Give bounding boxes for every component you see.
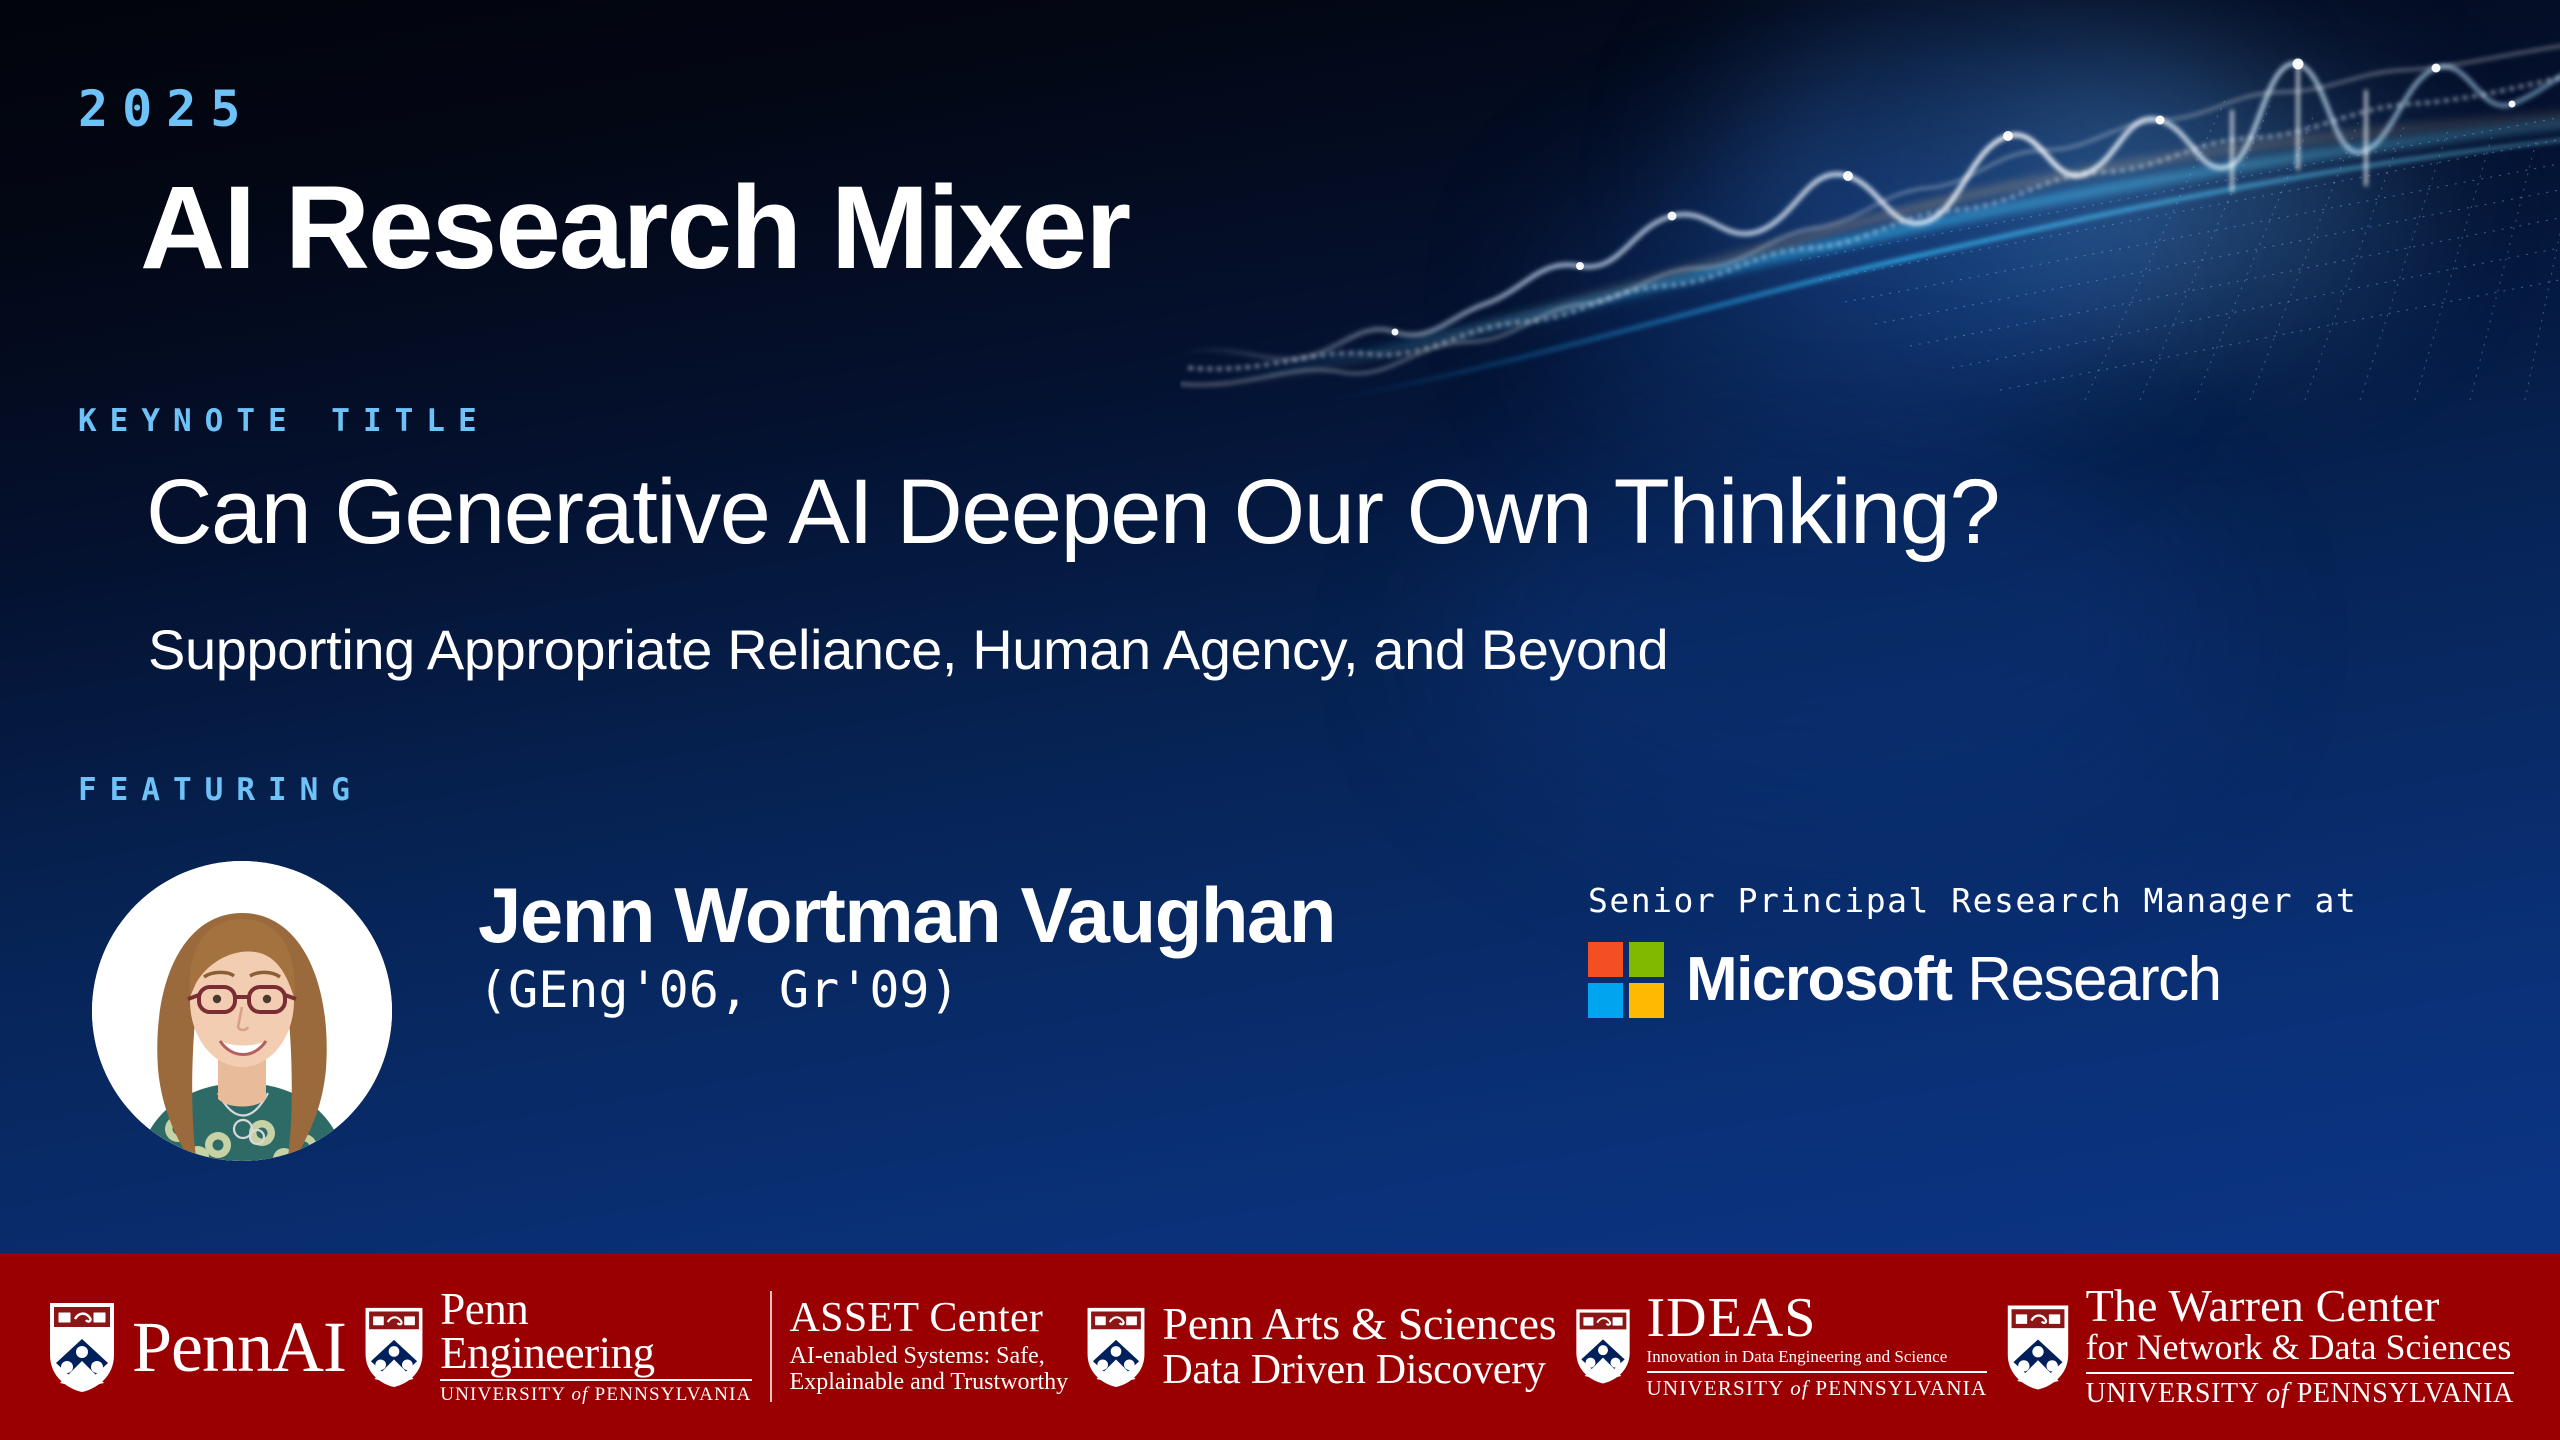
university-word: UNIVERSITY — [2086, 1378, 2259, 1409]
penn-arts-sciences-subtitle: Data Driven Discovery — [1162, 1348, 1556, 1393]
microsoft-research-wordmark: Microsoft Research — [1686, 949, 2221, 1011]
logo-warren-center[interactable]: The Warren Center for Network & Data Sci… — [2004, 1283, 2514, 1409]
asset-center-tagline-line1: AI-enabled Systems: Safe, — [790, 1343, 1069, 1370]
warren-center-subtitle: for Network & Data Sciences — [2086, 1329, 2514, 1366]
pennsylvania-word: PENNSYLVANIA — [2297, 1378, 2514, 1409]
penn-shield-icon — [2004, 1301, 2072, 1393]
penn-shield-icon — [46, 1299, 118, 1395]
microsoft-research-logo: Microsoft Research — [1588, 942, 2357, 1018]
background-glow — [1560, 150, 2120, 450]
event-title: AI Research Mixer — [140, 160, 1129, 296]
logo-penn-engineering-asset[interactable]: Penn Engineering UNIVERSITY of PENNSYLVA… — [362, 1287, 1068, 1406]
penn-engineering-wordmark: Penn Engineering UNIVERSITY of PENNSYLVA… — [440, 1287, 751, 1406]
speaker-degrees: (GEng'06, Gr'09) — [478, 961, 1335, 1019]
penn-arts-sciences-title: Penn Arts & Sciences — [1162, 1300, 1556, 1348]
pennsylvania-word: PENNSYLVANIA — [1815, 1376, 1987, 1400]
engineering-word: Engineering — [440, 1331, 751, 1375]
ideas-wordmark: IDEAS Innovation in Data Engineering and… — [1647, 1292, 1988, 1401]
microsoft-squares-icon — [1588, 942, 1664, 1018]
microsoft-square-bottom-right — [1629, 983, 1664, 1018]
logo-penn-arts-sciences[interactable]: Penn Arts & Sciences Data Driven Discove… — [1084, 1300, 1556, 1392]
asset-center-tagline-line2: Explainable and Trustworthy — [790, 1369, 1069, 1396]
background-glow — [1980, 60, 2410, 340]
penn-word: Penn — [440, 1287, 751, 1331]
warren-center-wordmark: The Warren Center for Network & Data Sci… — [2086, 1283, 2514, 1409]
asset-center-wordmark: ASSET Center AI-enabled Systems: Safe, E… — [790, 1287, 1069, 1406]
microsoft-square-top-left — [1588, 942, 1623, 977]
divider — [2086, 1372, 2514, 1374]
speaker-avatar — [92, 861, 392, 1161]
network-visualization-artwork — [1180, 0, 2560, 400]
warren-center-title: The Warren Center — [2086, 1283, 2514, 1329]
pennsylvania-word: PENNSYLVANIA — [595, 1384, 752, 1405]
microsoft-word: Microsoft — [1686, 945, 1952, 1014]
speaker-identity: Jenn Wortman Vaughan (GEng'06, Gr'09) — [478, 875, 1335, 1019]
keynote-title: Can Generative AI Deepen Our Own Thinkin… — [146, 460, 1999, 565]
background-glow — [1720, 10, 2240, 340]
keynote-subtitle: Supporting Appropriate Reliance, Human A… — [148, 617, 1668, 682]
sponsor-footer: PennAI Penn Engineer — [0, 1253, 2560, 1440]
of-word: of — [571, 1384, 588, 1405]
featuring-label: FEATURING — [78, 772, 363, 808]
speaker-affiliation: Senior Principal Research Manager at Mic… — [1588, 881, 2357, 1018]
keynote-title-label: KEYNOTE TITLE — [78, 403, 490, 439]
penn-arts-sciences-wordmark: Penn Arts & Sciences Data Driven Discove… — [1162, 1300, 1556, 1392]
divider — [440, 1379, 751, 1381]
university-line: UNIVERSITY of PENNSYLVANIA — [440, 1384, 751, 1406]
ideas-title: IDEAS — [1647, 1292, 1988, 1346]
event-year: 2025 — [78, 80, 254, 138]
penn-ai-wordmark: PennAI — [132, 1311, 346, 1383]
research-word: Research — [1967, 945, 2220, 1014]
university-line: UNIVERSITY of PENNSYLVANIA — [1647, 1376, 1988, 1401]
penn-shield-icon — [362, 1304, 426, 1390]
asset-center-title: ASSET Center — [790, 1297, 1069, 1340]
speaker-section: Jenn Wortman Vaughan (GEng'06, Gr'09) Se… — [78, 845, 2498, 1185]
microsoft-square-bottom-left — [1588, 983, 1623, 1018]
of-word: of — [1790, 1376, 1809, 1400]
ideas-subtitle: Innovation in Data Engineering and Scien… — [1647, 1347, 1988, 1367]
divider — [1647, 1371, 1988, 1373]
penn-shield-icon — [1084, 1304, 1148, 1390]
university-line: UNIVERSITY of PENNSYLVANIA — [2086, 1378, 2514, 1410]
university-word: UNIVERSITY — [440, 1384, 565, 1405]
logo-divider — [770, 1291, 772, 1402]
of-word: of — [2266, 1378, 2289, 1409]
university-word: UNIVERSITY — [1647, 1376, 1784, 1400]
speaker-role: Senior Principal Research Manager at — [1588, 881, 2357, 920]
logo-penn-ai[interactable]: PennAI — [46, 1299, 346, 1395]
microsoft-square-top-right — [1629, 942, 1664, 977]
event-poster: 2025 AI Research Mixer KEYNOTE TITLE Can… — [0, 0, 2560, 1440]
penn-shield-icon — [1573, 1306, 1633, 1386]
speaker-name: Jenn Wortman Vaughan — [478, 875, 1335, 957]
logo-ideas[interactable]: IDEAS Innovation in Data Engineering and… — [1573, 1292, 1988, 1401]
